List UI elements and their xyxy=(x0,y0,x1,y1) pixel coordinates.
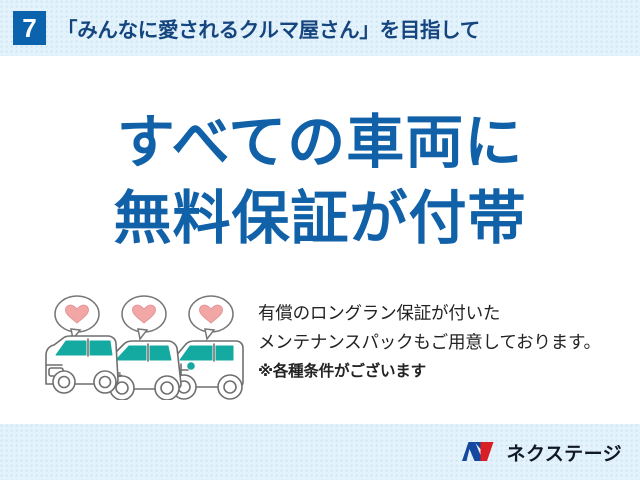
header-title: 「みんなに愛されるクルマ屋さん」を目指して xyxy=(57,13,480,43)
body-copy-line-2: メンテナンスパックもご用意しております。 xyxy=(258,329,638,358)
footer: ネクステージ xyxy=(0,424,640,480)
body-copy-note: ※各種条件がございます xyxy=(258,358,638,385)
body-copy: 有償のロングラン保証が付いた メンテナンスパックもご用意しております。 ※各種条… xyxy=(258,300,638,385)
headline: すべての車両に 無料保証が付帯 xyxy=(0,104,640,256)
nextage-logo-text: ネクステージ xyxy=(507,439,622,466)
nextage-logo-icon xyxy=(460,439,500,465)
body-copy-line-1: 有償のロングラン保証が付いた xyxy=(258,300,638,329)
header: 7 「みんなに愛されるクルマ屋さん」を目指して xyxy=(0,0,640,56)
content-row: 有償のロングラン保証が付いた メンテナンスパックもご用意しております。 ※各種条… xyxy=(0,292,640,404)
warranty-banner: 7 「みんなに愛されるクルマ屋さん」を目指して すべての車両に 無料保証が付帯 xyxy=(0,0,640,480)
headline-line-2: 無料保証が付帯 xyxy=(0,180,640,256)
car-kei-van xyxy=(46,336,118,393)
headline-line-1: すべての車両に xyxy=(0,104,640,180)
cars-illustration xyxy=(40,292,255,400)
three-cars-with-hearts-svg xyxy=(40,292,255,400)
section-number-badge: 7 xyxy=(13,11,46,45)
